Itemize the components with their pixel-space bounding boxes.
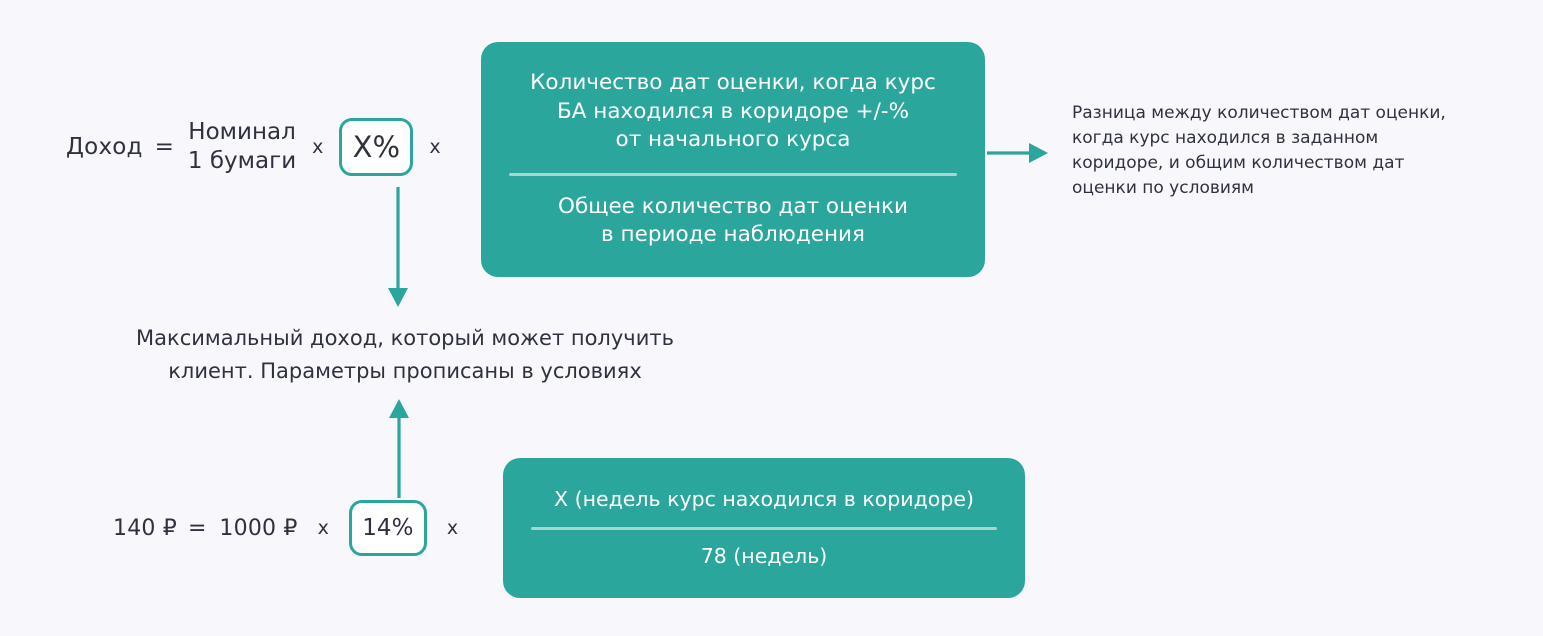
formula-row-example: 140 ₽ = 1000 ₽ x 14% x [113,500,478,556]
coupon-ratio-card: Количество дат оценки, когда курс БА нах… [481,42,985,277]
card-top-numerator: Количество дат оценки, когда курс БА нах… [505,69,961,155]
equals-sign-bottom: = [188,516,206,541]
rate-box-example[interactable]: 14% [349,500,427,556]
income-label: Доход [66,134,143,160]
card-bottom-numerator: X (недель курс находился в коридоре) [525,486,1003,513]
nominal-line-2: 1 бумаги [188,147,296,176]
card-bottom-denominator: 78 (недель) [525,543,1003,570]
multiply-sign-bottom-2: x [447,517,458,539]
nominal-line-1: Номинал [188,118,296,147]
weeks-ratio-card: X (недель курс находился в коридоре) 78 … [503,458,1025,598]
income-value: 140 ₽ [113,516,177,541]
multiply-sign-bottom-1: x [318,517,329,539]
nominal-term: Номинал 1 бумаги [188,118,296,177]
rate-box-generic[interactable]: X% [339,118,413,176]
card-top-divider [509,173,957,176]
max-income-note: Максимальный доход, который может получи… [100,322,710,387]
multiply-sign-top-2: x [429,136,440,158]
diagram-canvas: Доход = Номинал 1 бумаги x X% x Количест… [0,0,1543,636]
multiply-sign-top-1: x [312,136,323,158]
formula-row-generic: Доход = Номинал 1 бумаги x X% x [66,118,457,177]
equals-sign-top: = [155,134,174,160]
arrow-rate-up-icon [389,399,409,498]
arrow-card-right-icon [987,143,1048,163]
nominal-value: 1000 ₽ [219,516,297,541]
card-bottom-divider [531,527,997,530]
arrow-rate-down-icon [388,187,408,307]
difference-note: Разница между количеством дат оценки, ко… [1072,101,1512,202]
card-top-denominator: Общее количество дат оценки в периоде на… [505,193,961,250]
